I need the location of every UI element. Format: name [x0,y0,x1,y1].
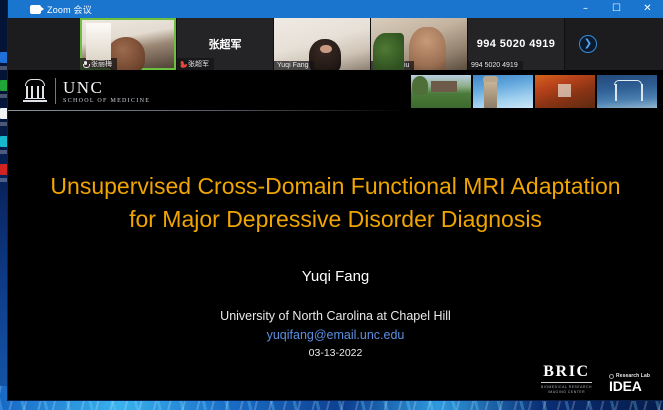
participant-name-badge: Mingxia Liu [371,61,414,70]
zoom-meeting-window: Zoom 会议 – ☐ ✕ 张丽梅 张超军 张超军 Yuqi Fang [8,0,663,400]
logo-divider [55,78,56,104]
campus-quad-photo [411,75,471,108]
slide-title-line-1: Unsupervised Cross-Domain Functional MRI… [50,173,620,199]
author-name: Yuqi Fang [8,268,663,285]
presentation-date: 03-13-2022 [8,345,663,362]
participant-name: 张超军 [188,59,209,69]
participant-filmstrip: 张丽梅 张超军 张超军 Yuqi Fang Mingxia Liu 994 50… [8,18,663,70]
participant-name: 张丽梅 [91,59,112,69]
header-divider-rule [8,110,408,111]
mic-on-icon [83,61,88,68]
bell-tower-photo [473,75,533,108]
slide-title-line-2: for Major Depressive Disorder Diagnosis [38,203,633,236]
participant-tile[interactable]: Yuqi Fang [274,18,371,70]
slide-footer-logos: BRIC BIOMEDICAL RESEARCH IMAGING CENTER … [541,364,653,395]
participant-name-badge: Yuqi Fang [274,61,314,70]
chevron-right-icon: ❯ [579,35,597,53]
shared-slide: UNC SCHOOL OF MEDICINE Unsupervised Cros… [8,70,663,400]
meeting-id-label: 994 5020 4919 [471,62,518,69]
bric-wordmark: BRIC [541,364,592,380]
window-controls: – ☐ ✕ [570,0,663,18]
zoom-video-icon [30,5,41,14]
minimize-icon[interactable]: – [570,0,601,18]
old-well-rotunda-icon [22,79,48,103]
window-title: Zoom 会议 [47,3,92,16]
autumn-foliage-photo [535,75,595,108]
participant-name-badge: 张超军 [177,58,214,70]
unc-wordmark: UNC [63,79,150,96]
idea-wordmark: IDEA [609,379,650,393]
bric-subtitle-line-2: IMAGING CENTER [541,390,592,395]
participant-name: Mingxia Liu [374,62,409,69]
campus-photo-strip [411,75,657,108]
author-block: Yuqi Fang University of North Carolina a… [8,268,663,362]
participant-name: Yuqi Fang [277,62,309,69]
email-link[interactable]: yuqifang@email.unc.edu [8,326,663,344]
mic-muted-icon [179,60,185,68]
bric-divider [541,382,592,383]
old-well-photo [597,75,657,108]
filmstrip-next-page-button[interactable]: ❯ [565,18,611,70]
close-icon[interactable]: ✕ [632,0,663,18]
participant-name-badge: 张丽梅 [80,58,117,70]
participant-tile[interactable]: 张超军 张超军 [177,18,274,70]
slide-title: Unsupervised Cross-Domain Functional MRI… [38,170,633,235]
maximize-icon[interactable]: ☐ [601,0,632,18]
unc-logo: UNC SCHOOL OF MEDICINE [22,78,150,104]
idea-lab-logo: Research Lab IDEA [606,372,653,395]
participant-tile[interactable]: Mingxia Liu [371,18,468,70]
meeting-id-badge: 994 5020 4919 [468,61,523,70]
unc-subtitle: SCHOOL OF MEDICINE [63,98,150,104]
window-titlebar[interactable]: Zoom 会议 – ☐ ✕ [8,0,663,18]
slide-header: UNC SCHOOL OF MEDICINE [8,70,663,112]
participant-tile[interactable]: 张丽梅 [80,18,177,70]
bric-logo: BRIC BIOMEDICAL RESEARCH IMAGING CENTER [541,364,592,395]
affiliation: University of North Carolina at Chapel H… [8,307,663,326]
meeting-id-tile[interactable]: 994 5020 4919 994 5020 4919 [468,18,565,70]
